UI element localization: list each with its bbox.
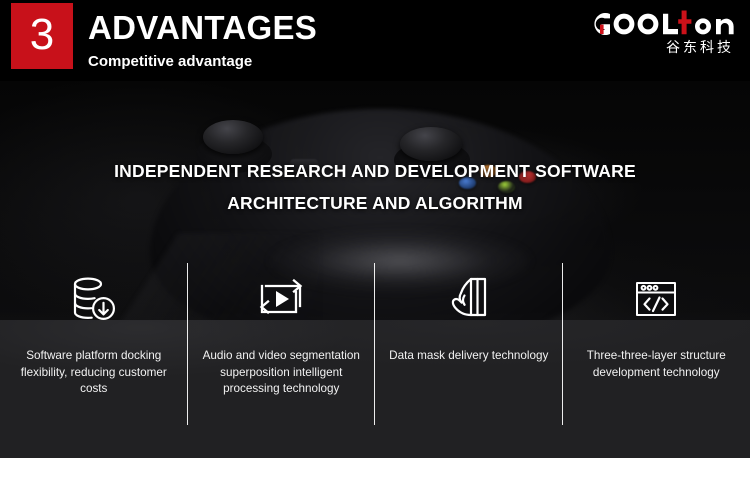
brand-logo: 谷东科技 xyxy=(586,10,736,58)
feature-label-3: Data mask delivery technology xyxy=(385,348,553,365)
hand-card-icon xyxy=(447,270,491,328)
page-title: ADVANTAGES xyxy=(88,8,317,48)
headline-block: INDEPENDENT RESEARCH AND DEVELOPMENT SOF… xyxy=(0,155,750,219)
feature-label-4: Three-three-layer structure development … xyxy=(572,348,740,381)
feature-item-3: Data mask delivery technology xyxy=(375,258,563,433)
header-titles: ADVANTAGES Competitive advantage xyxy=(88,8,317,72)
logo-chinese-name: 谷东科技 xyxy=(586,38,736,58)
video-loop-icon xyxy=(256,270,306,328)
headline-line-2: ARCHITECTURE AND ALGORITHM xyxy=(0,187,750,219)
controller-left-stick xyxy=(203,120,263,154)
slide-header: 3 ADVANTAGES Competitive advantage xyxy=(0,0,750,81)
feature-item-1: Software platform docking flexibility, r… xyxy=(0,258,188,433)
feature-label-2: Audio and video segmentation superpositi… xyxy=(197,348,365,398)
database-download-icon xyxy=(71,270,117,328)
feature-label-1: Software platform docking flexibility, r… xyxy=(10,348,178,398)
feature-item-2: Audio and video segmentation superpositi… xyxy=(188,258,376,433)
logo-goolton-svg xyxy=(588,10,736,38)
logo-wordmark xyxy=(586,10,736,38)
feature-item-4: Three-three-layer structure development … xyxy=(563,258,750,433)
slide-root: 3 ADVANTAGES Competitive advantage xyxy=(0,0,750,458)
code-window-icon xyxy=(634,270,678,328)
feature-columns: Software platform docking flexibility, r… xyxy=(0,258,750,433)
section-number: 3 xyxy=(11,3,73,69)
headline-line-1: INDEPENDENT RESEARCH AND DEVELOPMENT SOF… xyxy=(0,155,750,187)
section-number-badge: 3 xyxy=(11,3,73,69)
page-subtitle: Competitive advantage xyxy=(88,52,317,72)
bottom-white-margin xyxy=(0,458,750,480)
